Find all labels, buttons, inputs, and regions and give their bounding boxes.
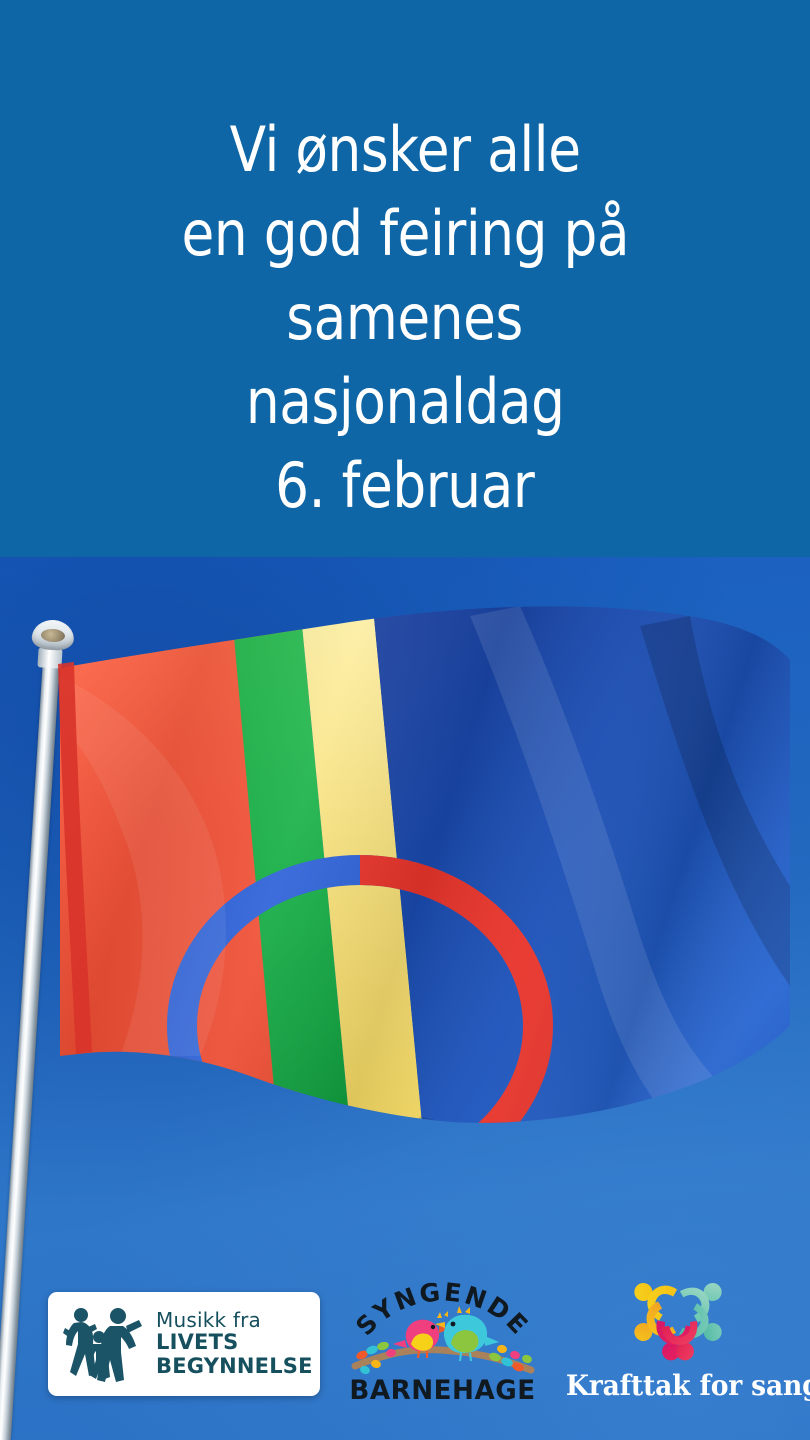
syngende-arc-text: SYNGENDE [350,1277,535,1341]
logo-krafttak-for-sang[interactable]: Krafttak for sang [560,1256,795,1406]
syngende-arc-and-birds-icon: SYNGENDE [345,1258,540,1383]
krafttak-for-sang-text: Krafttak for sang [566,1369,789,1402]
headline-line-5: 6. februar [275,444,534,528]
headline-line-4: nasjonaldag [246,360,565,444]
syngende-bottom-text: BARNEHAGE [348,1375,537,1406]
logo-musikk-fra-livets-begynnelse[interactable]: Musikk fra LIVETS BEGYNNELSE [48,1292,320,1396]
logo-musikk-line-1: Musikk fra [156,1309,313,1332]
three-dancing-figures-icon [60,1304,146,1384]
greeting-header: Vi ønsker alle en god feiring på samenes… [0,0,810,557]
logo-musikk-line-3: BEGYNNELSE [156,1355,313,1379]
poster-canvas: Vi ønsker alle en god feiring på samenes… [0,0,810,1440]
headline-line-3: samenes [287,276,524,360]
logo-syngende-barnehage[interactable]: SYNGENDE [345,1258,540,1408]
headline-line-1: Vi ønsker alle [229,108,580,192]
logo-musikk-line-2: LIVETS [156,1331,313,1355]
logo-musikk-text: Musikk fra LIVETS BEGYNNELSE [156,1309,313,1380]
circle-of-people-icon [612,1256,744,1368]
footer-logos: Musikk fra LIVETS BEGYNNELSE SYNGENDE [0,1250,810,1440]
headline-line-2: en god feiring på [181,192,629,276]
